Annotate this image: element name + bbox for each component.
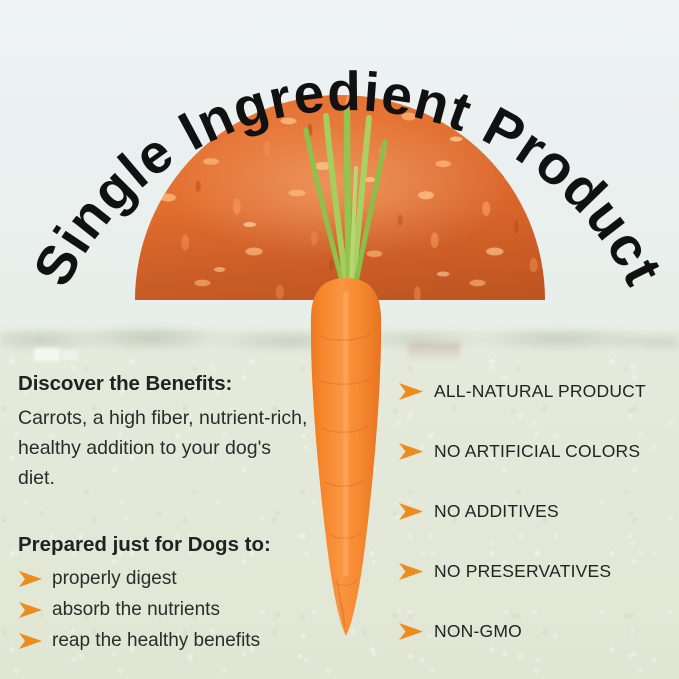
prepared-heading: Prepared just for Dogs to: (18, 533, 308, 557)
list-item: ALL-NATURAL PRODUCT (398, 376, 668, 406)
benefits-body: Carrots, a high fiber, nutrient-rich, he… (18, 403, 308, 493)
list-item: NO ADDITIVES (398, 496, 668, 526)
prepared-item-label: reap the healthy benefits (52, 630, 260, 652)
page-title-text: Single Ingredient Product (21, 60, 675, 295)
list-item: absorb the nutrients (18, 594, 308, 625)
arrow-bullet-icon (18, 601, 44, 619)
list-item: NON-GMO (398, 616, 668, 646)
feature-label: NO ADDITIVES (434, 501, 559, 522)
list-item: properly digest (18, 563, 308, 594)
prepared-item-label: absorb the nutrients (52, 599, 220, 621)
arrow-bullet-icon (18, 632, 44, 650)
arrow-bullet-icon (18, 570, 44, 588)
feature-label: NON-GMO (434, 621, 522, 642)
infographic-root: Single Ingredient Product Discover the B… (0, 0, 679, 679)
arrow-bullet-icon (398, 442, 425, 461)
list-item: NO PRESERVATIVES (398, 556, 668, 586)
arrow-bullet-icon (398, 562, 425, 581)
page-title-arc: Single Ingredient Product (0, 0, 679, 360)
list-item: reap the healthy benefits (18, 625, 308, 656)
prepared-item-label: properly digest (52, 568, 177, 590)
list-item: NO ARTIFICIAL COLORS (398, 436, 668, 466)
benefits-column: Discover the Benefits: Carrots, a high f… (18, 372, 308, 656)
arrow-bullet-icon (398, 382, 425, 401)
feature-label: NO PRESERVATIVES (434, 561, 611, 582)
feature-label: ALL-NATURAL PRODUCT (434, 381, 646, 402)
arrow-bullet-icon (398, 622, 425, 641)
arrow-bullet-icon (398, 502, 425, 521)
benefits-heading: Discover the Benefits: (18, 372, 308, 396)
features-column: ALL-NATURAL PRODUCT NO ARTIFICIAL COLORS… (398, 376, 668, 676)
feature-label: NO ARTIFICIAL COLORS (434, 441, 640, 462)
